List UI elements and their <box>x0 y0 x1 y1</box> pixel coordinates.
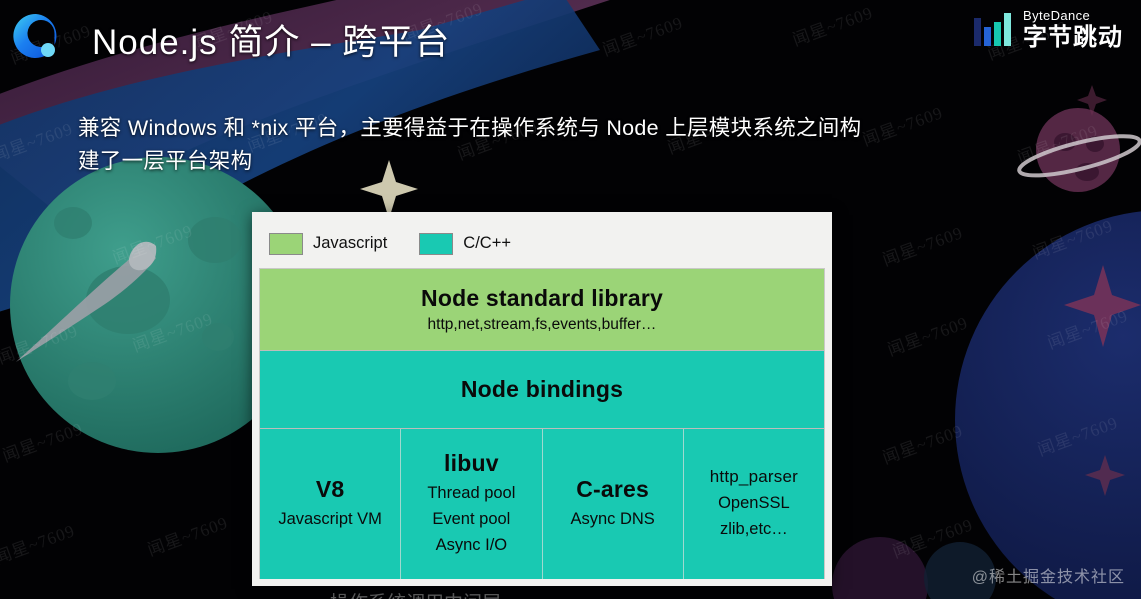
cut-off-caption: 操作系统调用中间层 <box>330 588 501 599</box>
body-line-2: 建了一层平台架构 <box>78 145 968 178</box>
bytedance-en-label: ByteDance <box>1023 9 1123 22</box>
layer-node-standard-library: Node standard library http,net,stream,fs… <box>260 269 824 351</box>
diagram-stack: Node standard library http,net,stream,fs… <box>259 268 825 579</box>
engine-http-parser: http_parser OpenSSL zlib,etc… <box>684 429 824 579</box>
layer-engines-row: V8 Javascript VM libuv Thread pool Event… <box>260 429 824 579</box>
node-architecture-diagram: Javascript C/C++ Node standard library h… <box>252 212 832 586</box>
legend-swatch-cpp <box>419 233 453 255</box>
engine-title: C-ares <box>576 476 649 503</box>
engine-line: zlib,etc… <box>720 516 788 542</box>
legend-item-javascript: Javascript <box>269 233 409 255</box>
engine-line: Thread pool <box>427 480 515 506</box>
layer-subtitle: http,net,stream,fs,events,buffer… <box>428 316 657 334</box>
engine-line: OpenSSL <box>718 490 790 516</box>
engine-line: Javascript VM <box>278 506 382 532</box>
engine-v8: V8 Javascript VM <box>260 429 401 579</box>
layer-node-bindings: Node bindings <box>260 351 824 429</box>
bytedance-logo: ByteDance 字节跳动 <box>974 9 1123 50</box>
bytedance-bars-icon <box>974 11 1014 49</box>
legend-label-cpp: C/C++ <box>463 234 511 253</box>
engine-libuv: libuv Thread pool Event pool Async I/O <box>401 429 542 579</box>
engine-line: Event pool <box>432 506 510 532</box>
diagram-legend: Javascript C/C++ <box>259 219 825 268</box>
qiniu-q-logo-icon <box>10 10 62 62</box>
layer-title: Node bindings <box>461 376 623 403</box>
page-title: Node.js 简介 – 跨平台 <box>92 14 450 65</box>
engine-line: Async I/O <box>436 532 508 558</box>
engine-title: V8 <box>316 476 345 503</box>
bytedance-cn-label: 字节跳动 <box>1023 26 1123 50</box>
engine-c-ares: C-ares Async DNS <box>543 429 684 579</box>
engine-title: libuv <box>444 450 499 477</box>
legend-item-cpp: C/C++ <box>419 233 533 255</box>
engine-line: Async DNS <box>570 506 654 532</box>
engine-title: http_parser <box>710 467 798 487</box>
legend-swatch-javascript <box>269 233 303 255</box>
slide-body-text: 兼容 Windows 和 *nix 平台，主要得益于在操作系统与 Node 上层… <box>78 112 968 178</box>
slide-header: Node.js 简介 – 跨平台 ByteDance 字节跳动 <box>0 0 1141 72</box>
presentation-slide: 闻星~7609 闻星~7609 闻星~7609 闻星~7609 闻星~7609 … <box>0 0 1141 599</box>
layer-title: Node standard library <box>421 285 663 312</box>
community-watermark: @稀土掘金技术社区 <box>972 563 1125 587</box>
body-line-1: 兼容 Windows 和 *nix 平台，主要得益于在操作系统与 Node 上层… <box>78 112 968 145</box>
legend-label-javascript: Javascript <box>313 234 387 253</box>
